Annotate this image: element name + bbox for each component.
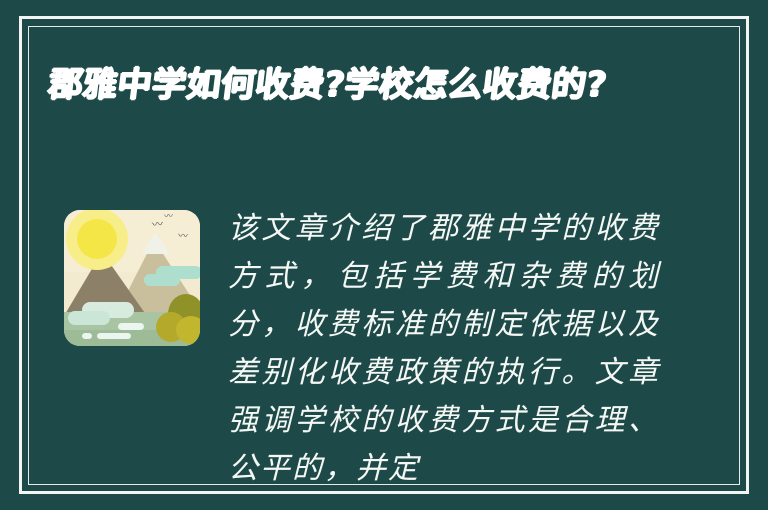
- article-title: 郡雅中学如何收费?学校怎么收费的?: [45, 58, 692, 112]
- sun-icon: [77, 219, 117, 259]
- snow-cap-back-icon: [142, 232, 170, 254]
- bird-icon: 〰: [152, 220, 164, 232]
- cloud-icon: [144, 274, 180, 286]
- illustration: 〰 〰 〰: [50, 202, 200, 350]
- bird-icon: 〰: [164, 212, 173, 221]
- article-card-image: 郡雅中学如何收费?学校怎么收费的? 〰 〰 〰: [0, 0, 768, 510]
- illustration-card: 〰 〰 〰: [64, 210, 200, 346]
- article-summary-text: 该文章介绍了郡雅中学的收费方式，包括学费和杂费的划分，收费标准的制定依据以及差别…: [228, 205, 660, 493]
- cloud-icon: [82, 333, 92, 339]
- tree-icon: [176, 316, 200, 344]
- bird-icon: 〰: [178, 232, 189, 243]
- cloud-icon: [118, 323, 144, 330]
- cloud-icon: [68, 311, 110, 325]
- cloud-icon: [97, 333, 131, 339]
